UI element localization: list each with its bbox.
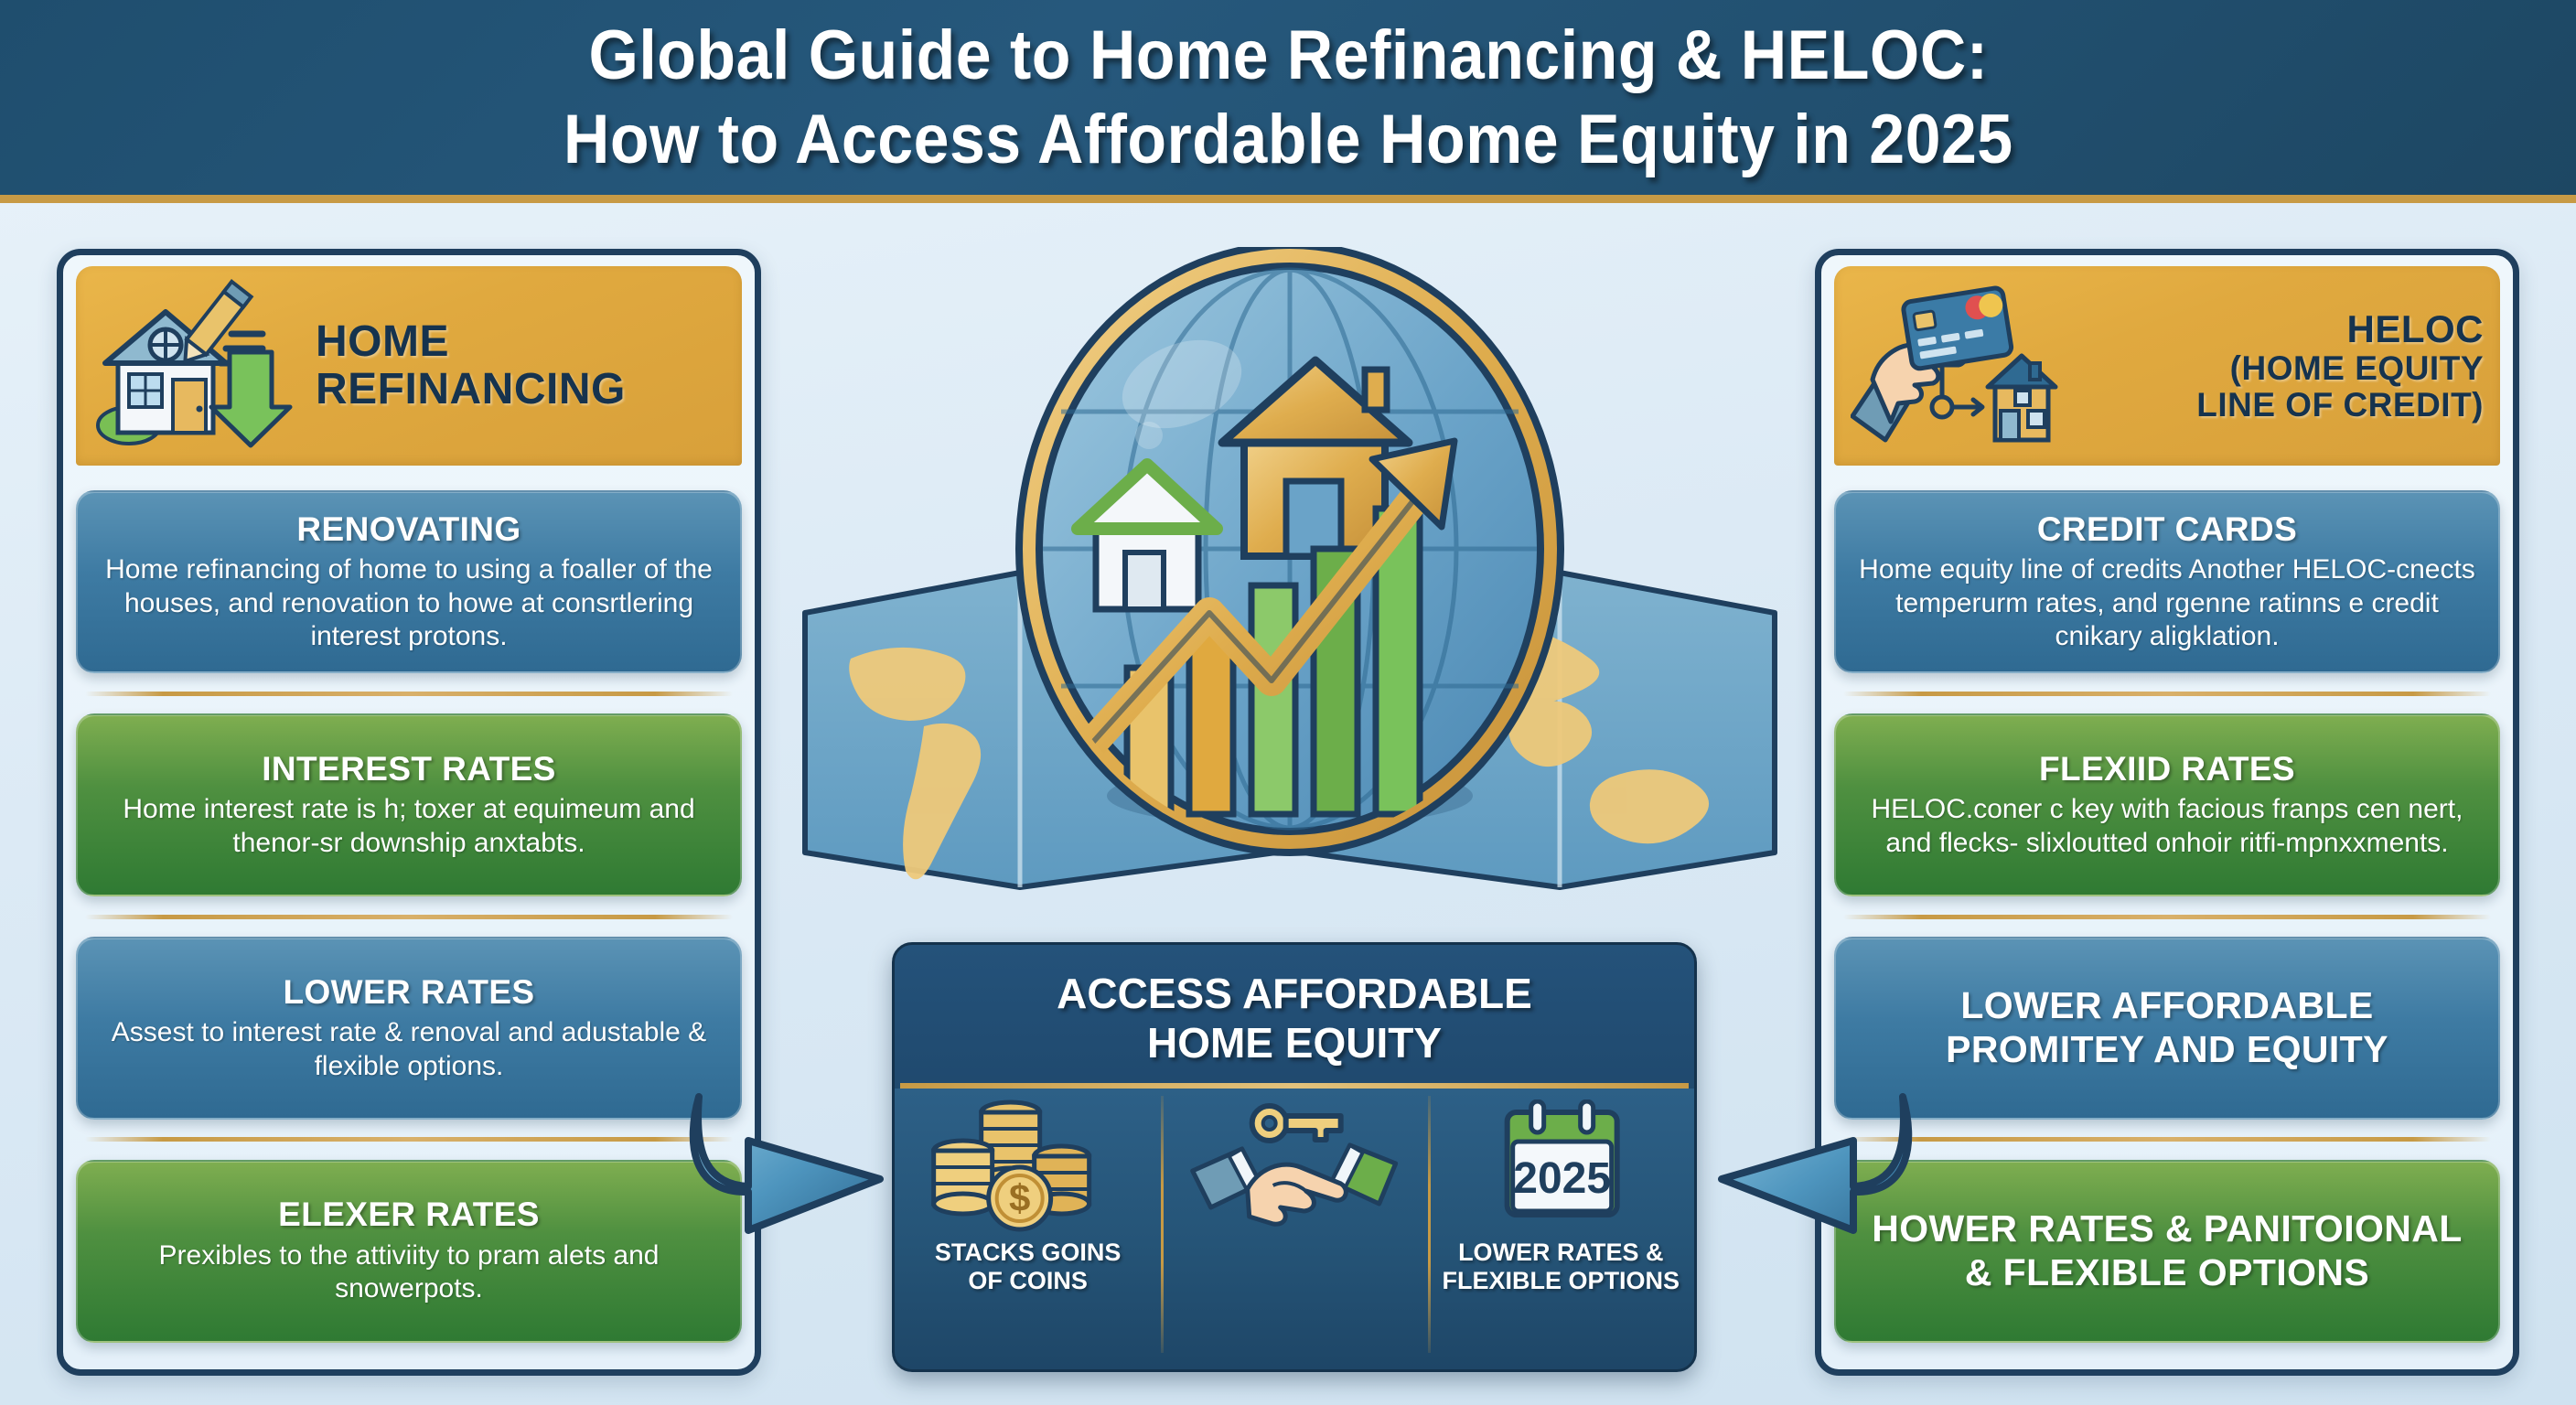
handshake-with-key-icon	[1166, 1099, 1422, 1233]
benefit-item-coins[interactable]: $ STACKS GOINS OF COINS	[895, 1089, 1161, 1369]
card-slot: RENOVATING Home refinancing of home to u…	[76, 478, 742, 686]
heloc-title-line-3: LINE OF CREDIT)	[2074, 387, 2484, 424]
card-slot: HOWER RATES & PANITOIONAL & FLEXIBLE OPT…	[1834, 1147, 2500, 1355]
card-hower-rates-flexible-options[interactable]: HOWER RATES & PANITOIONAL & FLEXIBLE OPT…	[1834, 1160, 2500, 1343]
card-divider	[85, 692, 733, 696]
card-slot: FLEXIID RATES HELOC.coner c key with fac…	[1834, 702, 2500, 909]
card-title: CREDIT CARDS	[1856, 510, 2478, 548]
card-body: Home equity line of credits Another HELO…	[1856, 553, 2478, 654]
card-slot: LOWER AFFORDABLE PROMITEY AND EQUITY	[1834, 925, 2500, 1132]
calendar-2025-icon: 2025	[1433, 1099, 1689, 1233]
benefit-label-line-1: LOWER RATES &	[1458, 1239, 1664, 1266]
card-slot: LOWER RATES Assest to interest rate & re…	[76, 925, 742, 1132]
access-affordable-home-equity-panel: ACCESS AFFORDABLE HOME EQUITY	[892, 942, 1697, 1372]
card-renovating[interactable]: RENOVATING Home refinancing of home to u…	[76, 490, 742, 673]
card-body: Home interest rate is h; toxer at equime…	[98, 793, 720, 860]
page-title-line-2: How to Access Affordable Home Equity in …	[563, 105, 2013, 175]
card-slot: INTEREST RATES Home interest rate is h; …	[76, 702, 742, 909]
card-interest-rates[interactable]: INTEREST RATES Home interest rate is h; …	[76, 713, 742, 896]
house-with-pencil-and-down-arrow-icon	[92, 279, 303, 453]
benefit-item-handshake[interactable]	[1161, 1089, 1427, 1369]
card-divider	[1843, 692, 2491, 696]
globe-with-houses-growth-arrow-bar-chart-on-world-map-icon	[787, 247, 1793, 924]
benefit-label-line-1: STACKS GOINS	[935, 1239, 1122, 1266]
center-title-line-2: HOME EQUITY	[1147, 1019, 1442, 1067]
heloc-card-list: CREDIT CARDS Home equity line of credits…	[1834, 466, 2500, 1355]
card-title: LOWER RATES	[98, 973, 720, 1011]
center-panel-title: ACCESS AFFORDABLE HOME EQUITY	[895, 945, 1694, 1083]
curved-arrow-right-icon	[684, 1084, 895, 1258]
hand-holding-credit-card-with-key-and-house-icon	[1851, 279, 2061, 453]
stack-of-coins-icon: $	[900, 1099, 1155, 1233]
card-lower-rates[interactable]: LOWER RATES Assest to interest rate & re…	[76, 937, 742, 1120]
heloc-title-line-2: (HOME EQUITY	[2074, 350, 2484, 387]
card-divider	[85, 915, 733, 919]
benefit-item-calendar[interactable]: 2025 LOWER RATES & FLEXIBLE OPTIONS	[1428, 1089, 1694, 1369]
card-flexiid-rates[interactable]: FLEXIID RATES HELOC.coner c key with fac…	[1834, 713, 2500, 896]
benefit-label-line-2: OF COINS	[968, 1267, 1088, 1294]
card-title: LOWER AFFORDABLE PROMITEY AND EQUITY	[1856, 984, 2478, 1071]
benefit-label-line-2: FLEXIBLE OPTIONS	[1443, 1267, 1680, 1294]
card-lower-affordable-promitey-and-equity[interactable]: LOWER AFFORDABLE PROMITEY AND EQUITY	[1834, 937, 2500, 1120]
home-refinancing-title-line-2: REFINANCING	[316, 365, 626, 413]
card-slot: CREDIT CARDS Home equity line of credits…	[1834, 478, 2500, 686]
card-title: INTEREST RATES	[98, 750, 720, 788]
benefit-label: STACKS GOINS OF COINS	[935, 1239, 1122, 1295]
card-elexer-rates[interactable]: ELEXER RATES Prexibles to the attiviity …	[76, 1160, 742, 1343]
home-refinancing-title: HOME REFINANCING	[316, 318, 626, 413]
heloc-header: HELOC (HOME EQUITY LINE OF CREDIT)	[1834, 266, 2500, 466]
card-divider	[1843, 915, 2491, 919]
heloc-title: HELOC (HOME EQUITY LINE OF CREDIT)	[2074, 308, 2484, 423]
card-body: Assest to interest rate & renoval and ad…	[98, 1016, 720, 1083]
card-divider	[1843, 1137, 2491, 1142]
benefit-label: LOWER RATES & FLEXIBLE OPTIONS	[1443, 1239, 1680, 1295]
card-title: RENOVATING	[98, 510, 720, 548]
home-refinancing-panel: HOME REFINANCING RENOVATING Home refinan…	[57, 249, 761, 1376]
heloc-title-line-1: HELOC	[2347, 307, 2485, 350]
card-slot: ELEXER RATES Prexibles to the attiviity …	[76, 1147, 742, 1355]
card-credit-cards[interactable]: CREDIT CARDS Home equity line of credits…	[1834, 490, 2500, 673]
center-title-line-1: ACCESS AFFORDABLE	[1057, 970, 1532, 1017]
card-title: FLEXIID RATES	[1856, 750, 2478, 788]
card-title: HOWER RATES & PANITOIONAL & FLEXIBLE OPT…	[1856, 1207, 2478, 1294]
card-body: Home refinancing of home to using a foal…	[98, 553, 720, 654]
svg-text:$: $	[1009, 1176, 1030, 1219]
calendar-year-text: 2025	[1513, 1154, 1611, 1203]
home-refinancing-title-line-1: HOME	[316, 317, 449, 366]
card-body: Prexibles to the attiviity to pram alets…	[98, 1239, 720, 1306]
card-title: ELEXER RATES	[98, 1196, 720, 1233]
card-body: HELOC.coner c key with facious franps ce…	[1856, 793, 2478, 860]
home-refinancing-header: HOME REFINANCING	[76, 266, 742, 466]
home-refinancing-card-list: RENOVATING Home refinancing of home to u…	[76, 466, 742, 1355]
center-benefit-row: $ STACKS GOINS OF COINS	[895, 1089, 1694, 1369]
card-divider	[85, 1137, 733, 1142]
heloc-panel: HELOC (HOME EQUITY LINE OF CREDIT) CREDI…	[1815, 249, 2519, 1376]
page-header: Global Guide to Home Refinancing & HELOC…	[0, 0, 2576, 203]
page-title-line-1: Global Guide to Home Refinancing & HELOC…	[588, 21, 1988, 91]
curved-arrow-left-icon	[1707, 1084, 1917, 1258]
